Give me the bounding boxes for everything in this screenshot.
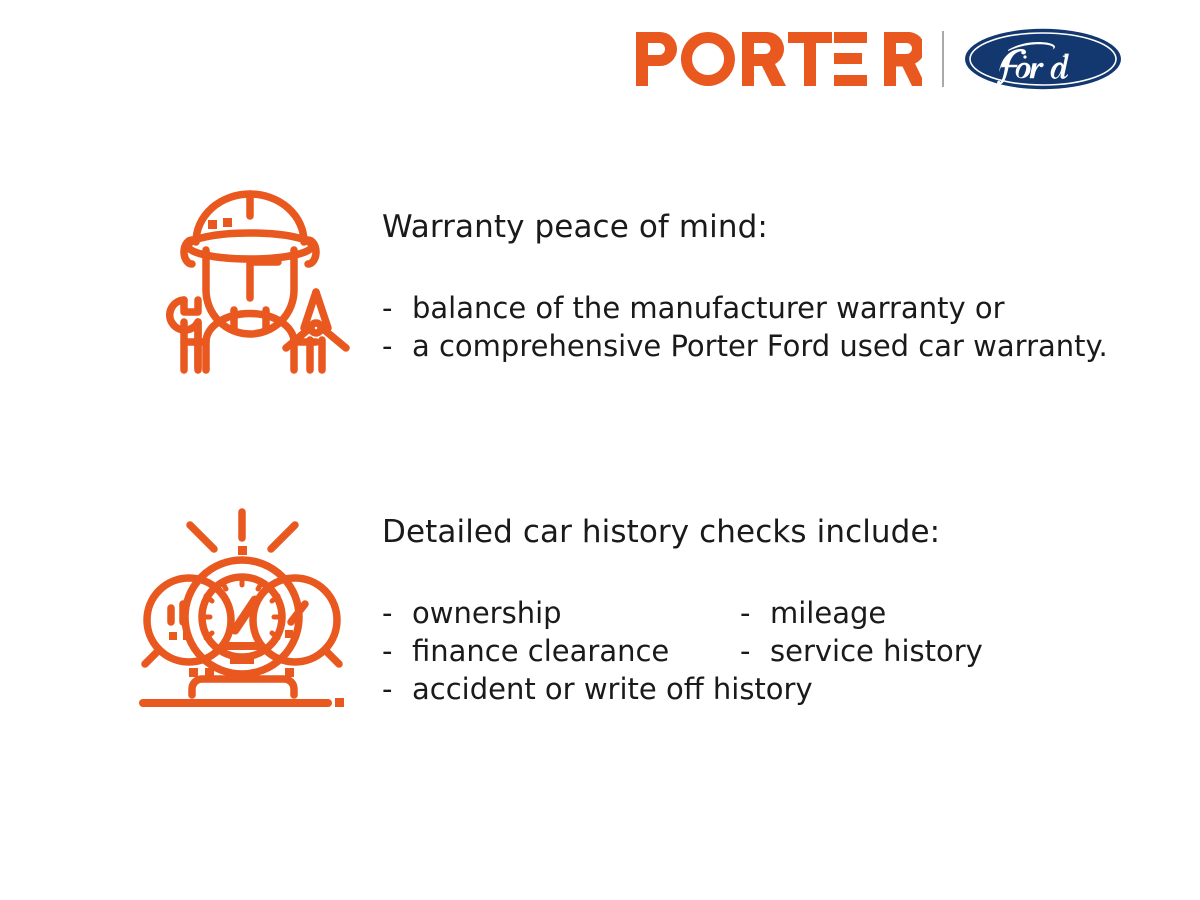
list-item: - ownership - mileage	[382, 594, 983, 632]
history-body: Detailed car history checks include: - o…	[360, 500, 983, 709]
bullet-text: accident or write off history	[412, 670, 813, 708]
bullet-text: finance clearance	[412, 632, 669, 670]
list-item: - balance of the manufacturer warranty o…	[382, 289, 1108, 327]
list-item-right: - mileage	[740, 594, 886, 632]
bullet-text: a comprehensive Porter Ford used car war…	[412, 327, 1108, 365]
warranty-heading: Warranty peace of mind:	[382, 208, 1108, 247]
bullet-dash: -	[740, 632, 770, 670]
history-bullet-list: - ownership - mileage - finance clearanc…	[382, 594, 983, 709]
history-heading: Detailed car history checks include:	[382, 513, 983, 552]
list-item-left: - finance clearance	[382, 632, 740, 670]
list-item: - finance clearance - service history	[382, 632, 983, 670]
bullet-dash: -	[382, 327, 412, 365]
warranty-bullet-list: - balance of the manufacturer warranty o…	[382, 289, 1108, 366]
list-item-right: - service history	[740, 632, 983, 670]
brand-divider	[942, 31, 944, 87]
history-block: Detailed car history checks include: - o…	[135, 500, 983, 714]
bullet-text: ownership	[412, 594, 562, 632]
bullet-text: mileage	[770, 594, 886, 632]
list-item-left: - ownership	[382, 594, 740, 632]
bullet-text: service history	[770, 632, 983, 670]
bullet-dash: -	[382, 594, 412, 632]
warranty-body: Warranty peace of mind: - balance of the…	[360, 180, 1108, 365]
bullet-text: balance of the manufacturer warranty or	[412, 289, 1005, 327]
bullet-dash: -	[382, 632, 412, 670]
brand-header	[636, 28, 1122, 90]
car-dashboard-gauges-warning-icon	[135, 500, 360, 714]
bullet-dash: -	[740, 594, 770, 632]
mechanic-hardhat-tools-icon	[150, 180, 360, 384]
porter-wordmark-r	[884, 32, 922, 86]
list-item: - accident or write off history	[382, 670, 983, 708]
porter-wordmark	[636, 32, 884, 86]
bullet-dash: -	[382, 670, 412, 708]
warranty-block: Warranty peace of mind: - balance of the…	[150, 180, 1108, 384]
list-item: - a comprehensive Porter Ford used car w…	[382, 327, 1108, 365]
bullet-dash: -	[382, 289, 412, 327]
ford-oval-logo	[964, 28, 1122, 90]
